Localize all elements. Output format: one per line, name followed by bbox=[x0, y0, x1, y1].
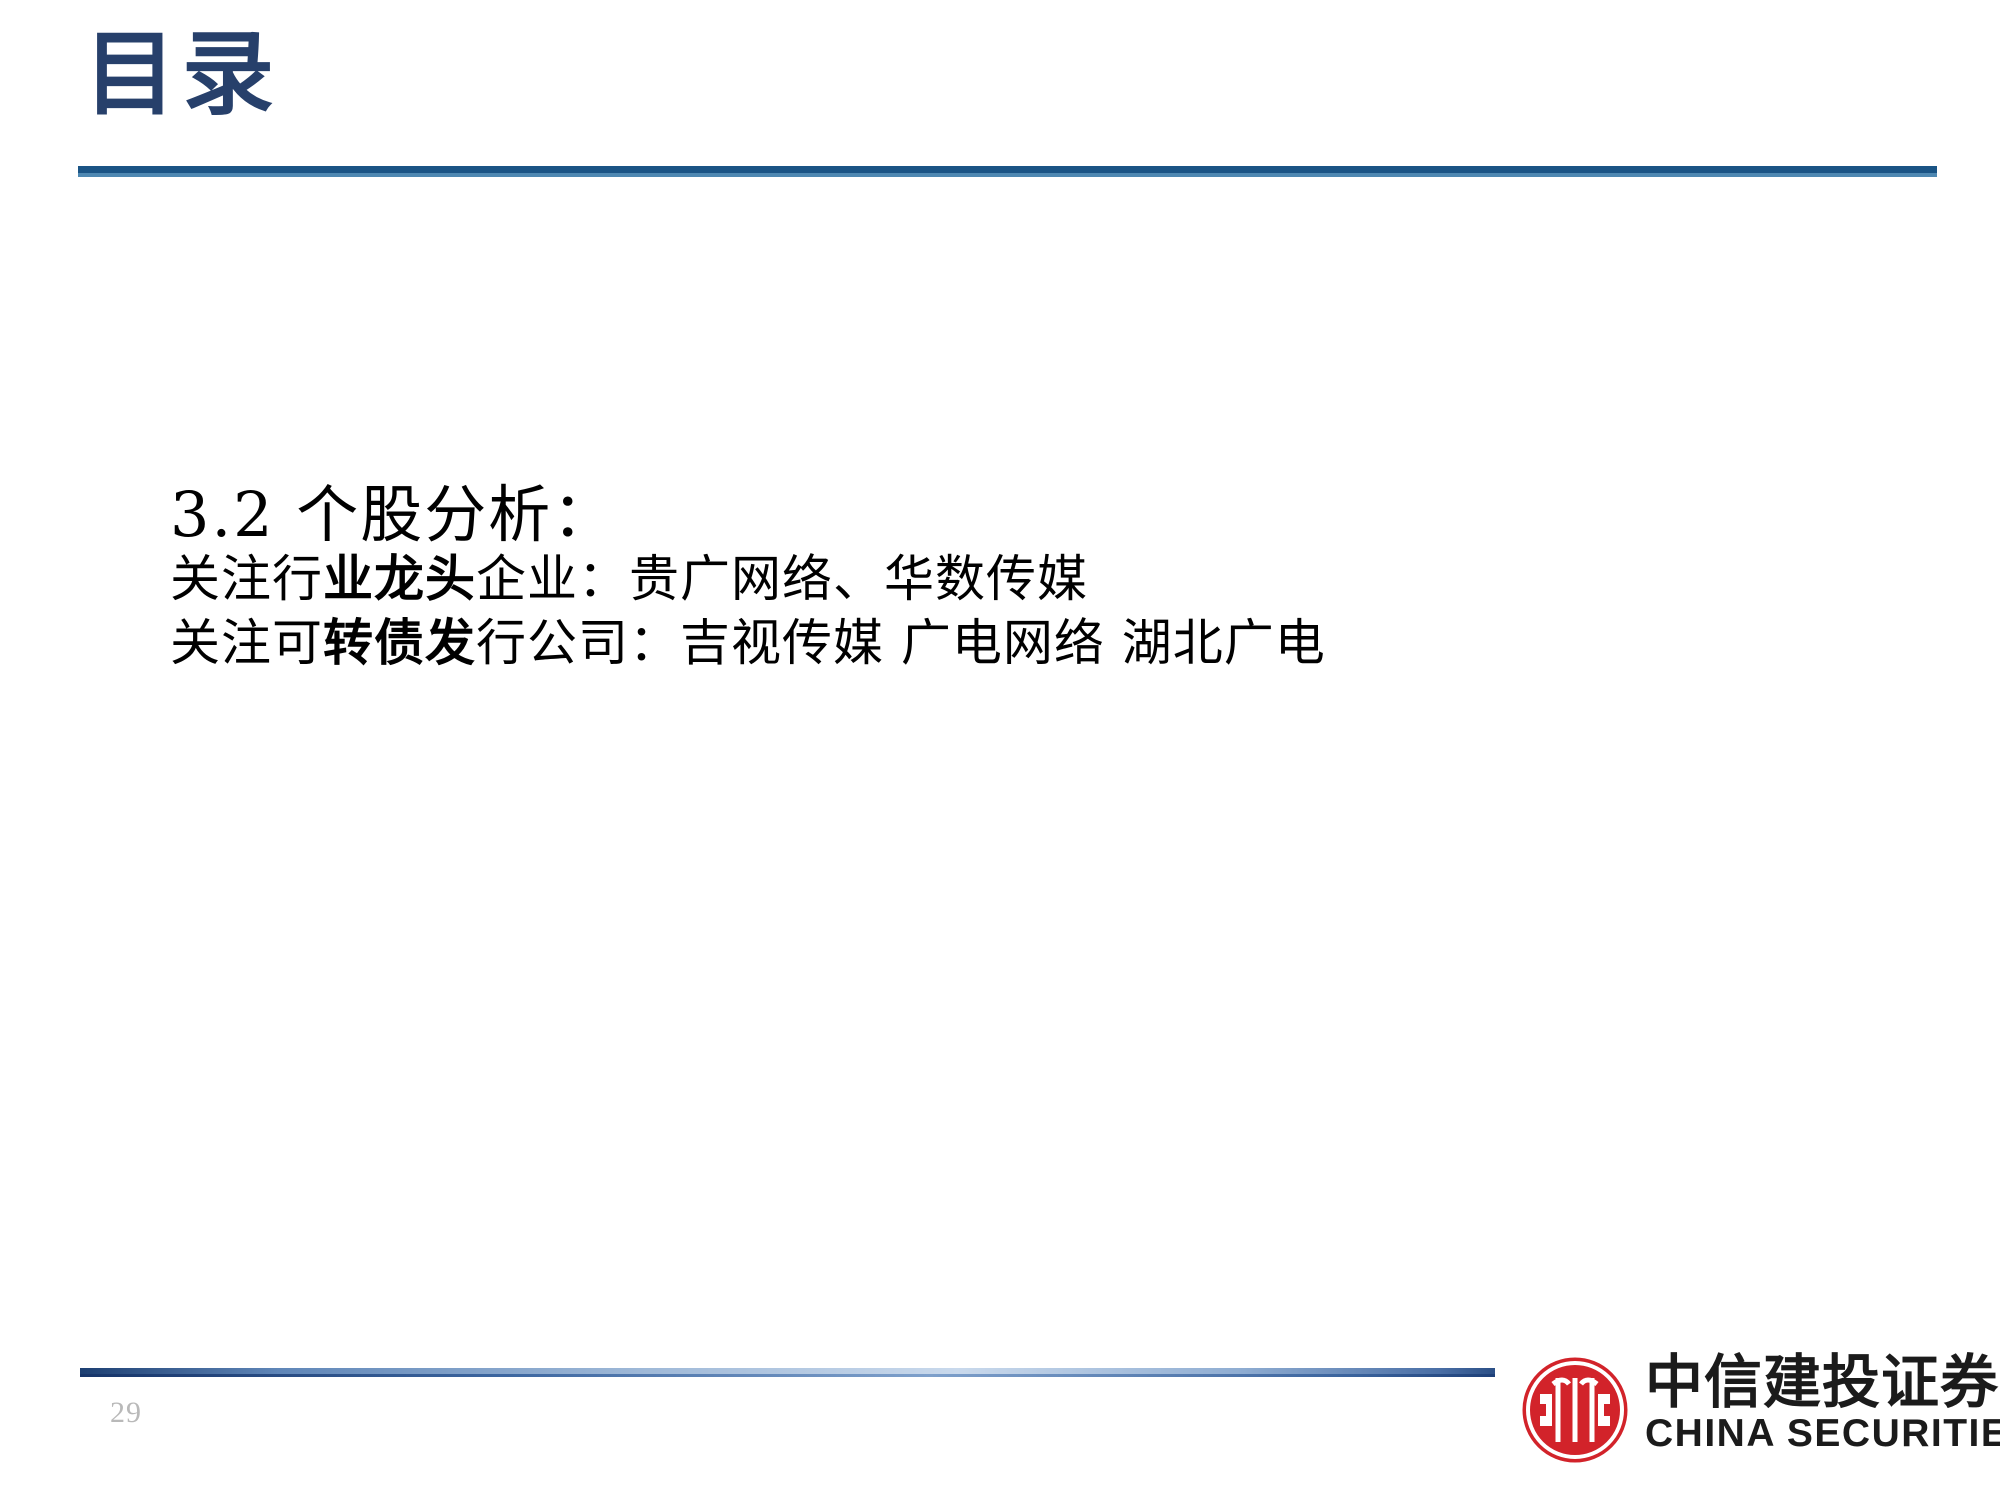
title-divider bbox=[78, 166, 1937, 177]
section-heading: 3.2 个股分析： bbox=[170, 480, 1670, 549]
line2-emphasis: 转债发 bbox=[323, 613, 476, 672]
footer-divider bbox=[80, 1368, 1495, 1377]
logo-text-block: 中信建投证券 CHINA SECURITIES bbox=[1645, 1352, 1989, 1455]
line1-prefix: 关注行 bbox=[170, 550, 323, 608]
divider-bar-dark bbox=[78, 166, 1937, 173]
line2-prefix: 关注可 bbox=[170, 614, 323, 672]
line1-suffix: 企业：贵广网络、华数传媒 bbox=[476, 550, 1088, 608]
logo-company-name-cn: 中信建投证券 bbox=[1645, 1352, 1989, 1412]
line2-suffix: 行公司：吉视传媒 广电网络 湖北广电 bbox=[476, 614, 1326, 672]
company-logo: 中信建投证券 CHINA SECURITIES bbox=[1519, 1352, 1989, 1472]
slide-root: 目录 3.2 个股分析： 关注行业龙头企业：贵广网络、华数传媒 关注可转债发行公… bbox=[0, 0, 2000, 1500]
divider-bar-light bbox=[78, 173, 1937, 177]
bullet-line-convertible-bond-issuers: 关注可转债发行公司：吉视传媒 广电网络 湖北广电 bbox=[170, 613, 1670, 673]
bullet-line-industry-leaders: 关注行业龙头企业：贵广网络、华数传媒 bbox=[170, 549, 1670, 609]
page-title: 目录 bbox=[84, 28, 280, 120]
line1-emphasis: 业龙头 bbox=[323, 549, 476, 608]
page-number: 29 bbox=[110, 1396, 142, 1430]
citic-circle-mark-icon bbox=[1519, 1354, 1631, 1466]
logo-company-name-en: CHINA SECURITIES bbox=[1645, 1414, 1989, 1455]
content-block: 3.2 个股分析： 关注行业龙头企业：贵广网络、华数传媒 关注可转债发行公司：吉… bbox=[170, 480, 1670, 673]
